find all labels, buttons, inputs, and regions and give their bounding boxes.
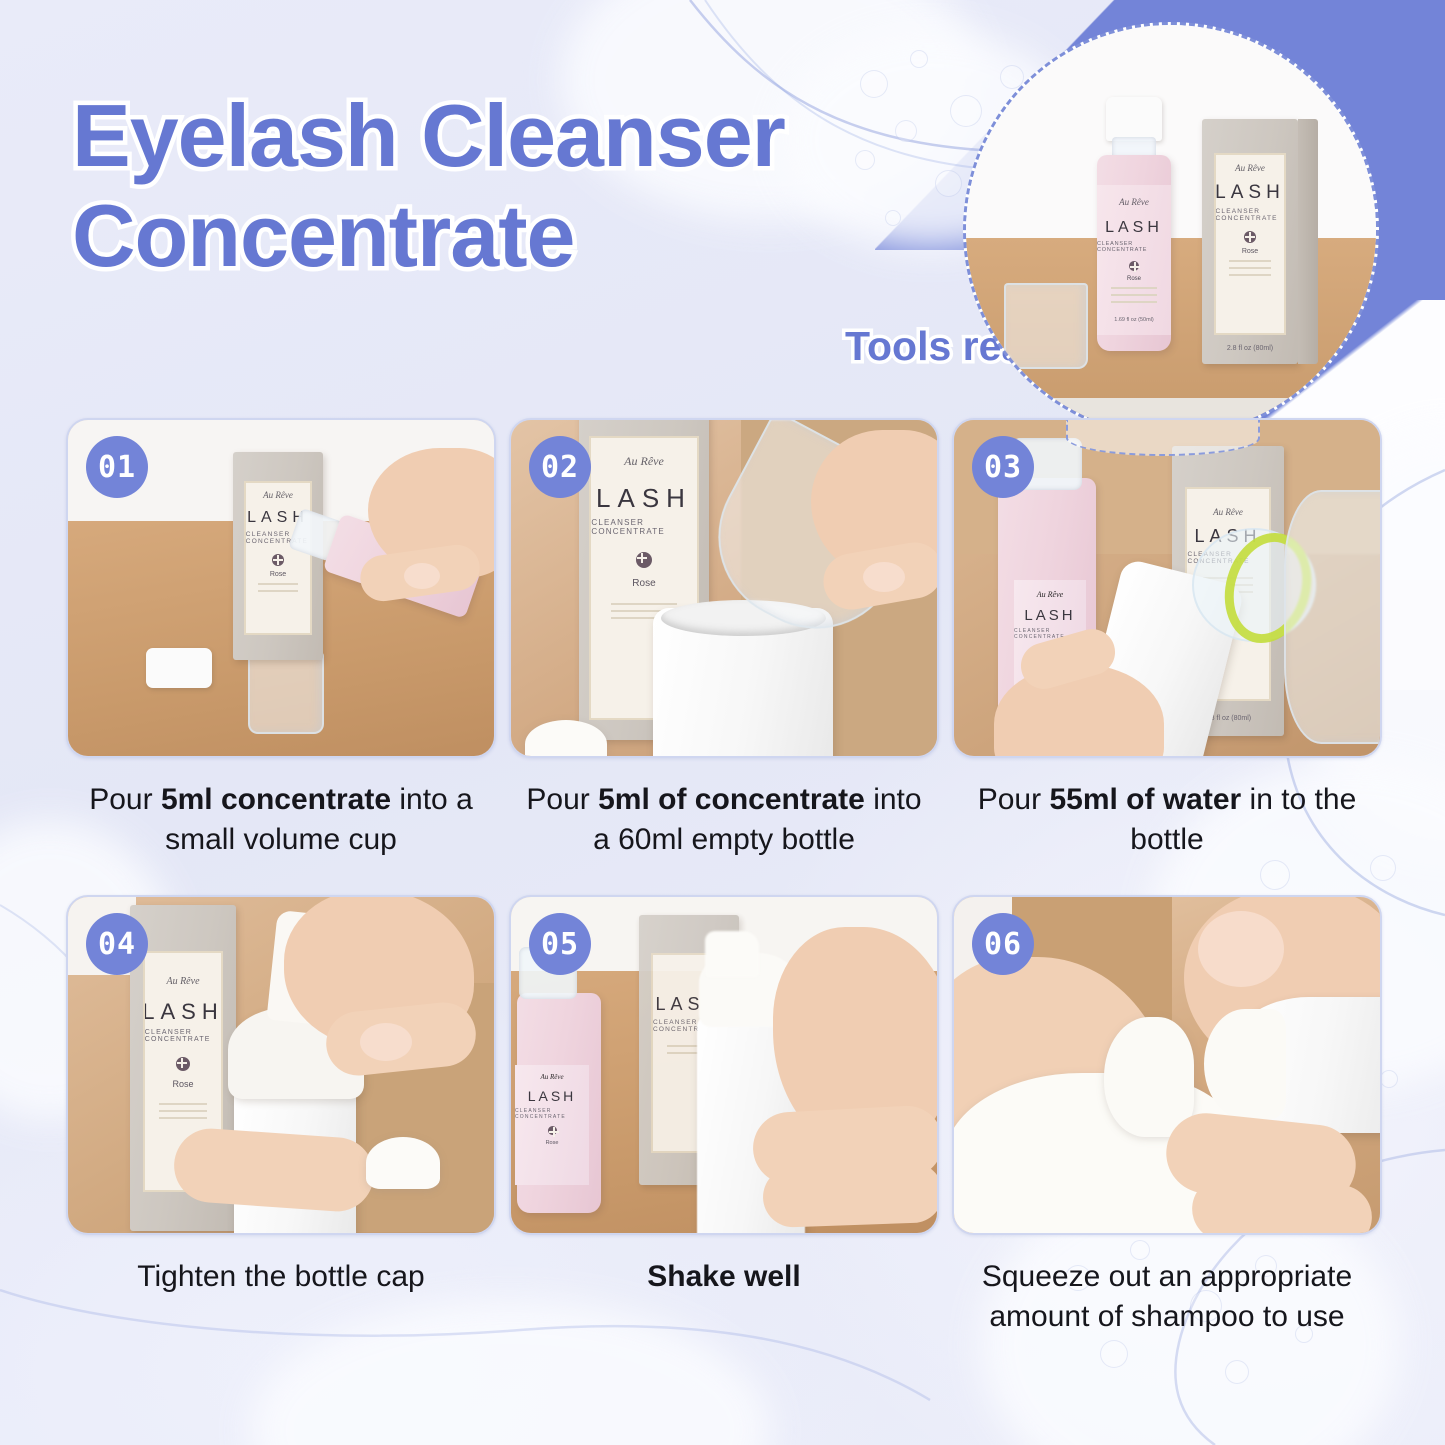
caption-post: Squeeze out an appropriate amount of sha… (982, 1260, 1352, 1333)
bottle-brand: Au Rêve (1119, 197, 1149, 207)
step-card-01[interactable]: Au Rêve LASH CLEANSER CONCENTRATE Rose (66, 418, 496, 859)
box-variant: Rose (172, 1079, 193, 1089)
step-photo-06: 06 (952, 895, 1382, 1235)
bottle-name: LASH (1024, 607, 1075, 624)
caption-pre: Pour (526, 783, 598, 816)
caption-pre: Pour (89, 783, 161, 816)
step-caption-02: Pour 5ml of concentrate into a 60ml empt… (509, 780, 939, 859)
step-caption-04: Tighten the bottle cap (66, 1257, 496, 1297)
caption-bold: 5ml of concentrate (598, 783, 865, 816)
step-card-02[interactable]: Au Rêve LASH CLEANSER CONCENTRATE Rose (509, 418, 939, 859)
box-subtitle: CLEANSER CONCENTRATE (145, 1029, 222, 1043)
step-badge-01: 01 (86, 436, 148, 498)
bottle-variant: Rose (1127, 276, 1141, 282)
caption-bold: 5ml concentrate (161, 783, 391, 816)
bottle-variant: Rose (546, 1140, 559, 1146)
bottle-name: LASH (1105, 219, 1163, 237)
tools-ready-photo: Au Rêve LASH CLEANSER CONCENTRATE Rose 1… (963, 22, 1379, 438)
steps-row-1: Au Rêve LASH CLEANSER CONCENTRATE Rose (0, 418, 1445, 859)
bottle-name: LASH (528, 1088, 577, 1104)
box-subtitle: CLEANSER CONCENTRATE (1216, 208, 1285, 222)
step-caption-05: Shake well (509, 1257, 939, 1297)
bottle-volume: 1.69 fl oz (50ml) (1114, 317, 1153, 323)
product-box: Au Rêve LASH CLEANSER CONCENTRATE Rose 2… (1202, 119, 1298, 364)
page-title-line-2: Concentrate (72, 186, 952, 286)
steps-grid: Au Rêve LASH CLEANSER CONCENTRATE Rose (0, 418, 1445, 1336)
page-title-line-1: Eyelash Cleanser (72, 86, 952, 186)
caption-bold: 55ml of water (1049, 783, 1241, 816)
step-caption-06: Squeeze out an appropriate amount of sha… (952, 1257, 1382, 1336)
box-name: LASH (596, 483, 692, 514)
caption-bold: Shake well (647, 1260, 800, 1293)
steps-row-2: Au Rêve LASH CLEANSER CONCENTRATE Rose (0, 895, 1445, 1336)
caption-post: Tighten the bottle cap (137, 1260, 424, 1293)
box-brand: Au Rêve (1235, 163, 1265, 173)
box-subtitle: CLEANSER CONCENTRATE (591, 518, 696, 536)
measuring-cup (1004, 283, 1088, 369)
box-name: LASH (143, 999, 224, 1025)
flower-icon (1129, 261, 1139, 271)
step-badge-04: 04 (86, 913, 148, 975)
box-variant: Rose (270, 571, 286, 578)
bottle-subtitle: CLEANSER CONCENTRATE (1097, 241, 1171, 253)
box-name: LASH (1215, 182, 1285, 204)
step-card-06[interactable]: 06 Squeeze out an appropriate amount of … (952, 895, 1382, 1336)
step-badge-02: 02 (529, 436, 591, 498)
step-caption-03: Pour 55ml of water in to the bottle (952, 780, 1382, 859)
box-brand: Au Rêve (166, 976, 199, 987)
box-side (1298, 119, 1318, 364)
step-photo-02: Au Rêve LASH CLEANSER CONCENTRATE Rose (509, 418, 939, 758)
bottle-subtitle: CLEANSER CONCENTRATE (515, 1108, 589, 1120)
box-variant: Rose (632, 578, 655, 589)
step-card-04[interactable]: Au Rêve LASH CLEANSER CONCENTRATE Rose (66, 895, 496, 1336)
caption-pre: Pour (978, 783, 1050, 816)
step-card-05[interactable]: Au Rêve LASH CLEANSER CONCENTRATE Rose L… (509, 895, 939, 1336)
bottle-cap (1106, 97, 1162, 141)
box-volume: 2.8 fl oz (80ml) (1202, 345, 1298, 352)
flower-icon (1244, 231, 1256, 243)
bottle-brand: Au Rêve (540, 1073, 563, 1081)
step-card-03[interactable]: Au Rêve LASH CLEANSER CONCENTRATE Au Rêv… (952, 418, 1382, 859)
concentrate-bottle: Au Rêve LASH CLEANSER CONCENTRATE Rose 1… (1097, 155, 1171, 351)
hero-scene: Au Rêve LASH CLEANSER CONCENTRATE Rose 1… (966, 25, 1376, 435)
box-variant: Rose (1242, 248, 1258, 255)
step-photo-04: Au Rêve LASH CLEANSER CONCENTRATE Rose (66, 895, 496, 1235)
page-title: Eyelash Cleanser Concentrate (72, 86, 952, 287)
box-brand: Au Rêve (624, 454, 664, 469)
step-photo-01: Au Rêve LASH CLEANSER CONCENTRATE Rose (66, 418, 496, 758)
step-badge-03: 03 (972, 436, 1034, 498)
box-label: Au Rêve LASH CLEANSER CONCENTRATE Rose (1214, 153, 1287, 334)
step-photo-05: Au Rêve LASH CLEANSER CONCENTRATE Rose L… (509, 895, 939, 1235)
step-badge-05: 05 (529, 913, 591, 975)
box-brand: Au Rêve (263, 490, 293, 500)
step-badge-06: 06 (972, 913, 1034, 975)
box-brand: Au Rêve (1213, 507, 1243, 517)
step-caption-01: Pour 5ml concentrate into a small volume… (66, 780, 496, 859)
bottle-brand: Au Rêve (1037, 590, 1063, 599)
step-photo-03: Au Rêve LASH CLEANSER CONCENTRATE Au Rêv… (952, 418, 1382, 758)
